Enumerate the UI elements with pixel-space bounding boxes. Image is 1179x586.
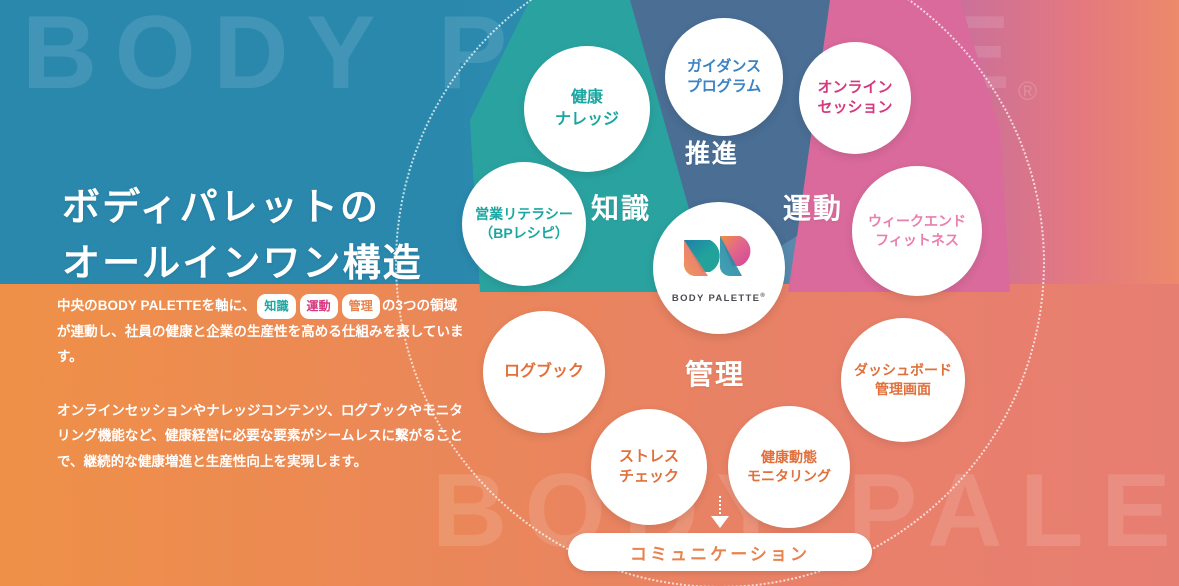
logo-wordmark: BODY PALETTE® xyxy=(672,293,766,304)
category-label-promote: 推進 xyxy=(685,134,739,170)
node-eigyo-literacy-line2: （BPレシピ） xyxy=(475,224,573,243)
logo-registered-icon: ® xyxy=(760,293,766,299)
node-guidance-program[interactable]: ガイダンス プログラム xyxy=(665,18,783,136)
node-weekend-fitness-line1: ウィークエンド xyxy=(868,212,966,231)
watermark-registered-icon: ® xyxy=(1018,76,1037,107)
node-weekend-fitness[interactable]: ウィークエンド フィットネス xyxy=(852,166,982,296)
node-guidance-program-line1: ガイダンス xyxy=(687,57,762,77)
node-kenko-knowledge-line2: ナレッジ xyxy=(555,109,619,131)
category-label-knowledge: 知識 xyxy=(591,187,651,227)
infographic-canvas: BODY PALETTE BODY PALETTE ® ボディパレットの オール… xyxy=(0,0,1179,586)
tag-management: 管理 xyxy=(342,294,380,319)
description-paragraph-2: オンラインセッションやナレッジコンテンツ、ログブックやモニタリング機能など、健康… xyxy=(57,398,469,474)
logo-wordmark-text: BODY PALETTE xyxy=(672,293,760,304)
node-online-session[interactable]: オンライン セッション xyxy=(799,42,911,154)
node-dashboard-line1: ダッシュボード xyxy=(854,361,952,380)
node-online-session-line1: オンライン xyxy=(817,78,892,98)
flow-arrow-head-icon xyxy=(711,516,729,528)
node-stress-check[interactable]: ストレス チェック xyxy=(591,409,707,525)
node-stress-check-line2: チェック xyxy=(619,467,679,487)
node-eigyo-literacy[interactable]: 営業リテラシー （BPレシピ） xyxy=(462,162,586,286)
node-health-monitoring-line1: 健康動態 xyxy=(747,448,831,467)
node-dashboard-line2: 管理画面 xyxy=(854,380,952,399)
node-eigyo-literacy-line1: 営業リテラシー xyxy=(475,205,573,224)
node-dashboard[interactable]: ダッシュボード 管理画面 xyxy=(841,318,965,442)
communication-pill[interactable]: コミュニケーション xyxy=(568,533,872,571)
description-paragraph-1: 中央のBODY PALETTEを軸に、知識運動管理の3つの領域が連動し、社員の健… xyxy=(57,293,469,369)
node-health-monitoring[interactable]: 健康動態 モニタリング xyxy=(728,406,850,528)
paragraph-1-prefix: 中央のBODY PALETTEを軸に、 xyxy=(57,298,255,313)
flow-arrow-line xyxy=(719,496,721,518)
node-health-monitoring-line2: モニタリング xyxy=(747,467,831,486)
headline-line-2: オールインワン構造 xyxy=(62,236,423,292)
node-kenko-knowledge[interactable]: 健康 ナレッジ xyxy=(524,46,650,172)
node-guidance-program-line2: プログラム xyxy=(687,77,762,97)
node-kenko-knowledge-line1: 健康 xyxy=(555,87,619,109)
node-weekend-fitness-line2: フィットネス xyxy=(868,231,966,250)
node-log-book-line1: ログブック xyxy=(504,361,584,383)
page-title: ボディパレットの オールインワン構造 xyxy=(62,180,423,292)
category-label-management: 管理 xyxy=(685,353,745,393)
tag-knowledge: 知識 xyxy=(257,294,295,319)
body-palette-logo-icon xyxy=(680,232,758,284)
node-online-session-line2: セッション xyxy=(817,98,892,118)
center-logo-node[interactable]: BODY PALETTE® xyxy=(653,202,785,334)
category-label-exercise: 運動 xyxy=(783,187,843,227)
node-log-book[interactable]: ログブック xyxy=(483,311,605,433)
tag-exercise: 運動 xyxy=(300,294,338,319)
node-stress-check-line1: ストレス xyxy=(619,447,679,467)
headline-line-1: ボディパレットの xyxy=(62,180,423,236)
